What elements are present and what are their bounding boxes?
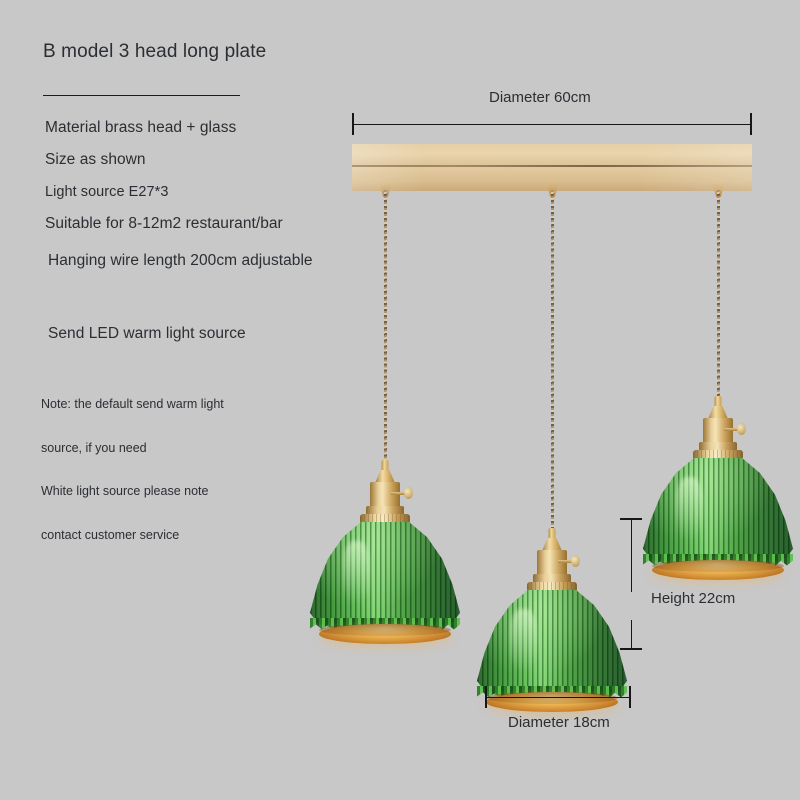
title-divider bbox=[43, 95, 240, 96]
socket-nipple-icon bbox=[715, 396, 722, 407]
dimension-cap-plate-left bbox=[352, 113, 354, 135]
braided-cord-center bbox=[551, 190, 554, 530]
spec-material: Material brass head + glass bbox=[45, 119, 236, 137]
dimension-label-plate-width: Diameter 60cm bbox=[489, 89, 591, 106]
shade-highlight bbox=[510, 609, 537, 672]
page-title: B model 3 head long plate bbox=[43, 41, 266, 63]
socket-switch-knob bbox=[404, 487, 413, 499]
socket-body bbox=[537, 550, 567, 577]
dimension-label-shade-height: Height 22cm bbox=[651, 590, 735, 607]
shade-highlight bbox=[343, 541, 370, 604]
socket-body bbox=[703, 418, 733, 445]
shade-rim-shadow bbox=[319, 624, 451, 636]
braided-cord-right bbox=[717, 190, 720, 398]
dimension-line-height-upper bbox=[631, 518, 632, 592]
socket-switch-knob bbox=[571, 555, 580, 567]
dimension-cap-diameter-right bbox=[629, 686, 631, 708]
spec-size: Size as shown bbox=[45, 151, 146, 169]
shade-bell bbox=[477, 590, 627, 698]
spec-wire-length: Hanging wire length 200cm adjustable bbox=[48, 252, 313, 270]
dimension-cap-plate-right bbox=[750, 113, 752, 135]
brass-socket-center bbox=[524, 528, 580, 596]
brass-socket-left bbox=[357, 460, 413, 528]
dimension-cap-diameter-left bbox=[485, 686, 487, 708]
glass-shade-right bbox=[643, 458, 793, 566]
spec-led-bulb: Send LED warm light source bbox=[48, 325, 246, 343]
note-line-3: White light source please note bbox=[41, 484, 224, 499]
brass-socket-right bbox=[690, 396, 746, 464]
socket-body bbox=[370, 482, 400, 509]
glass-shade-left bbox=[310, 522, 460, 630]
socket-switch-knob bbox=[737, 423, 746, 435]
shade-rim-shadow bbox=[486, 692, 618, 704]
product-spec-image: B model 3 head long plate Material brass… bbox=[0, 0, 800, 800]
glass-shade-center bbox=[477, 590, 627, 698]
socket-nipple-icon bbox=[549, 528, 556, 539]
ceiling-mount-plate bbox=[352, 144, 752, 191]
shade-highlight bbox=[676, 477, 703, 540]
shade-bell bbox=[310, 522, 460, 630]
spec-suitable-area: Suitable for 8-12m2 restaurant/bar bbox=[45, 215, 283, 233]
plate-top-face bbox=[352, 144, 752, 166]
note-line-2: source, if you need bbox=[41, 441, 224, 456]
note-line-1: Note: the default send warm light bbox=[41, 397, 224, 412]
dimension-line-plate-width bbox=[352, 124, 752, 125]
shade-bell bbox=[643, 458, 793, 566]
note-line-4: contact customer service bbox=[41, 528, 224, 543]
braided-cord-left bbox=[384, 190, 387, 462]
warm-light-note: Note: the default send warm light source… bbox=[41, 368, 224, 571]
dimension-line-shade-diameter bbox=[485, 697, 630, 698]
dimension-label-shade-diameter: Diameter 18cm bbox=[508, 714, 610, 731]
socket-nipple-icon bbox=[382, 460, 389, 471]
dimension-line-height-lower bbox=[631, 620, 632, 650]
dimension-cap-height-bottom bbox=[620, 648, 642, 650]
spec-light-source: Light source E27*3 bbox=[45, 184, 168, 200]
shade-rim-shadow bbox=[652, 560, 784, 572]
